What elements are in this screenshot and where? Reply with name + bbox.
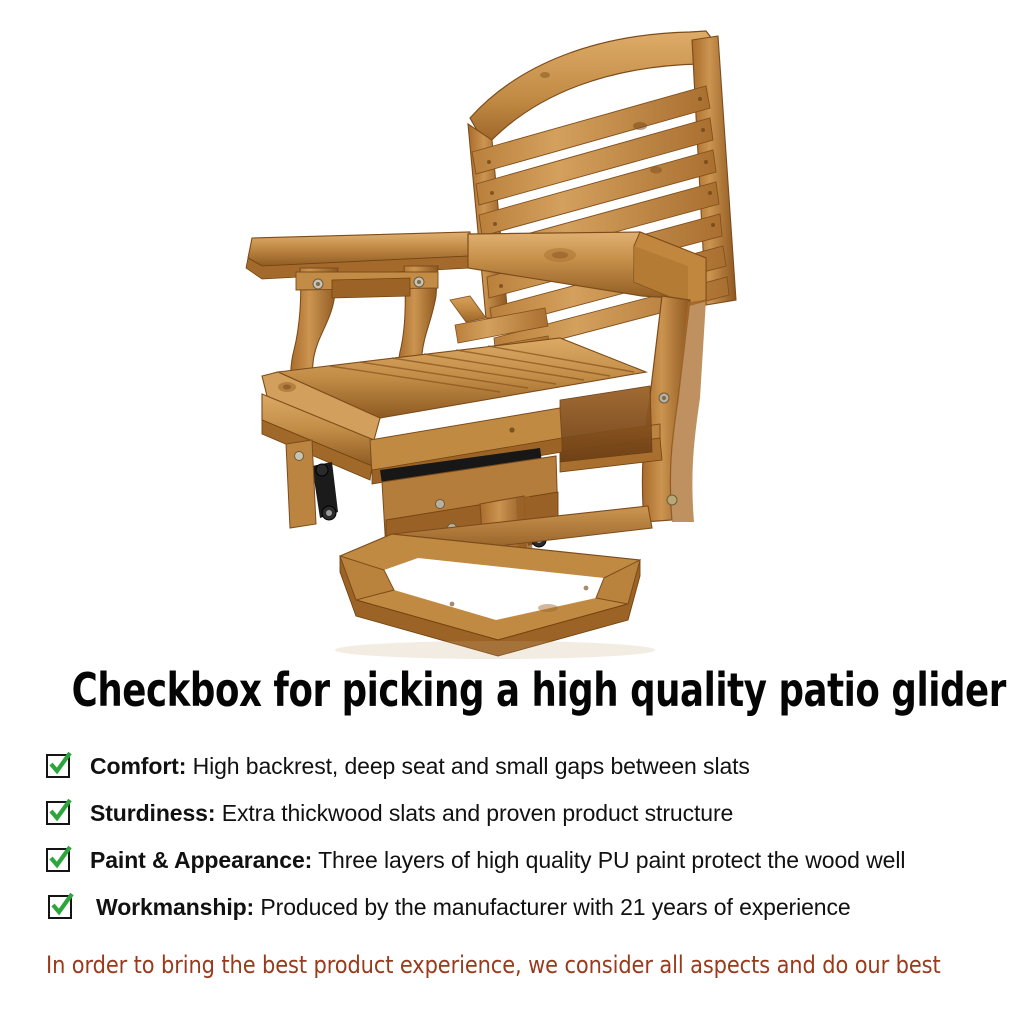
checklist-item-paint-appearance[interactable]: Paint & Appearance: Three layers of high… <box>0 836 1024 883</box>
checklist-item-sturdiness[interactable]: Sturdiness: Extra thickwood slats and pr… <box>0 789 1024 836</box>
checklist-item-detail: Produced by the manufacturer with 21 yea… <box>254 894 850 920</box>
checked-checkbox-icon[interactable] <box>46 754 70 778</box>
patio-glider-chair-photo <box>0 0 1024 660</box>
checklist-item-text: Paint & Appearance: Three layers of high… <box>90 846 905 874</box>
checklist-item-text: Sturdiness: Extra thickwood slats and pr… <box>90 799 733 827</box>
checklist-item-detail: High backrest, deep seat and small gaps … <box>186 753 750 779</box>
feature-checklist: Comfort: High backrest, deep seat and sm… <box>0 742 1024 930</box>
checklist-item-workmanship[interactable]: Workmanship: Produced by the manufacture… <box>0 883 1024 930</box>
page-title: Checkbox for picking a high quality pati… <box>72 664 953 716</box>
checklist-item-comfort[interactable]: Comfort: High backrest, deep seat and sm… <box>0 742 1024 789</box>
footer-tagline: In order to bring the best product exper… <box>46 950 977 980</box>
checklist-item-label: Paint & Appearance: <box>90 847 312 873</box>
product-infographic-page: Checkbox for picking a high quality pati… <box>0 0 1024 1024</box>
checklist-item-label: Workmanship: <box>96 894 254 920</box>
product-photo <box>0 0 1024 660</box>
checklist-item-label: Sturdiness: <box>90 800 215 826</box>
checked-checkbox-icon[interactable] <box>46 801 70 825</box>
checklist-item-detail: Extra thickwood slats and proven product… <box>215 800 733 826</box>
checklist-item-detail: Three layers of high quality PU paint pr… <box>312 847 905 873</box>
checklist-item-text: Comfort: High backrest, deep seat and sm… <box>90 752 750 780</box>
checklist-item-label: Comfort: <box>90 753 186 779</box>
checked-checkbox-icon[interactable] <box>46 848 70 872</box>
checked-checkbox-icon[interactable] <box>48 895 72 919</box>
checklist-item-text: Workmanship: Produced by the manufacture… <box>96 893 851 921</box>
